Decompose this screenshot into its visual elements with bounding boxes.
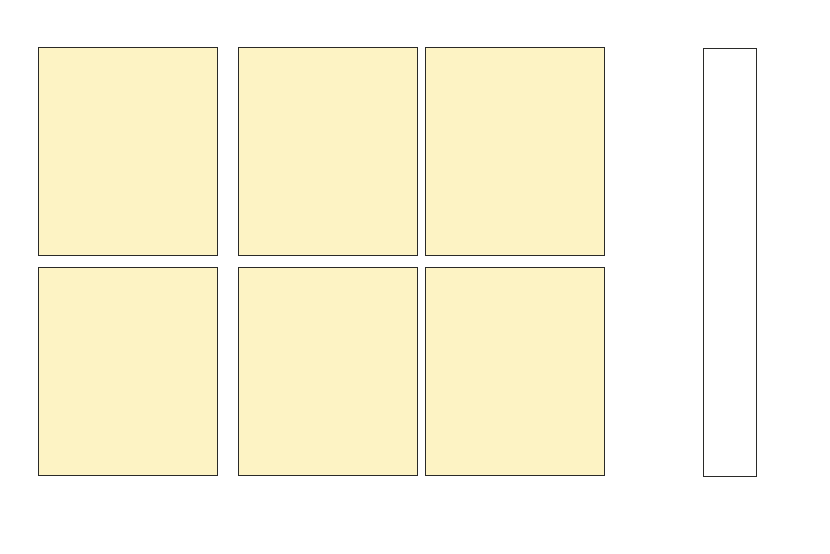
heatmap-image — [39, 268, 217, 475]
colorbar[interactable] — [703, 48, 757, 477]
heatmap-image — [39, 48, 217, 255]
heatmap-panel-direct-100k[interactable] — [425, 47, 605, 256]
y-axis-title-row1 — [654, 420, 674, 425]
heatmap-panel-staged-10k[interactable] — [238, 267, 418, 476]
heatmap-image — [239, 48, 417, 255]
heatmap-panel-staged-1k[interactable] — [38, 267, 218, 476]
y-axis-title-row0 — [654, 200, 674, 205]
heatmap-image — [426, 48, 604, 255]
heatmap-panel-direct-10k[interactable] — [238, 47, 418, 256]
figure-canvas — [0, 0, 830, 554]
heatmap-image — [426, 268, 604, 475]
heatmap-panel-direct-1k[interactable] — [38, 47, 218, 256]
colorbar-gradient — [704, 49, 756, 476]
heatmap-panel-staged-100k[interactable] — [425, 267, 605, 476]
heatmap-image — [239, 268, 417, 475]
